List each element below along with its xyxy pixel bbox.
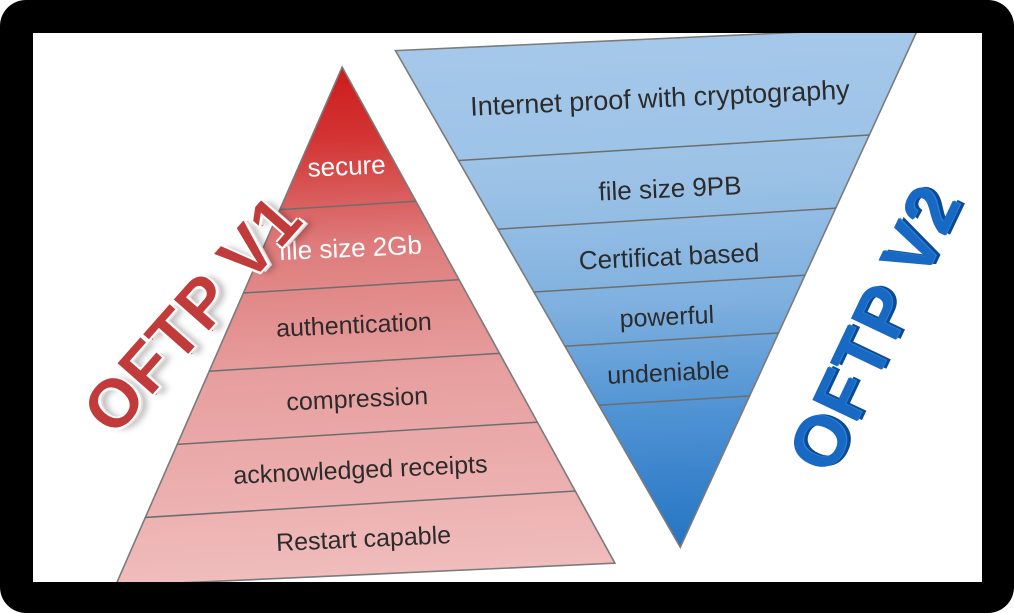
figure-frame: secure file size 2Gb authentication comp…: [0, 0, 1014, 613]
figure-panel: secure file size 2Gb authentication comp…: [33, 33, 982, 582]
comparison-diagram: secure file size 2Gb authentication comp…: [33, 33, 982, 582]
